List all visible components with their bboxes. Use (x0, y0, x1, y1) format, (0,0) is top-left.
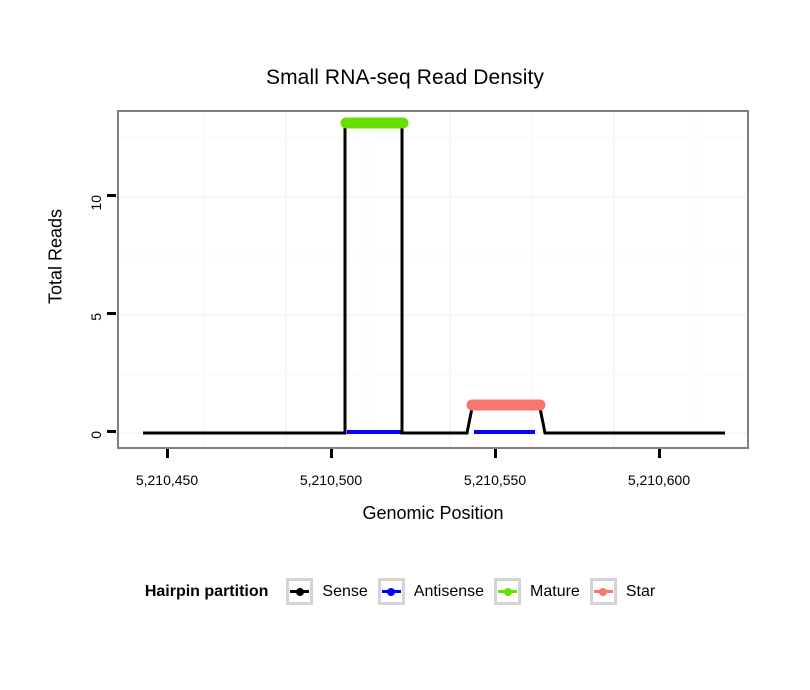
y-tick-10: 10 (60, 187, 96, 203)
plot-canvas (119, 112, 747, 447)
legend-entry-mature[interactable]: Mature (494, 578, 580, 605)
x-axis-title: Genomic Position (117, 503, 749, 524)
y-tick-label-5: 5 (88, 313, 104, 347)
plot-panel (117, 110, 749, 449)
x-tick-label-4: 5,210,600 (599, 472, 719, 488)
major-gridlines-horizontal (119, 197, 747, 433)
x-tickmark-1 (166, 449, 169, 458)
legend-label-antisense: Antisense (414, 583, 484, 601)
series-sense (143, 120, 725, 433)
legend-label-sense: Sense (322, 583, 367, 601)
legend-label-star: Star (626, 583, 655, 601)
legend-key-mature-icon (494, 578, 521, 605)
y-tick-label-0: 0 (88, 431, 104, 465)
legend: Hairpin partition Sense Antisense Mature (0, 578, 810, 605)
legend-label-mature: Mature (530, 583, 580, 601)
legend-entry-star[interactable]: Star (590, 578, 655, 605)
page-title: Small RNA-seq Read Density (0, 66, 810, 90)
y-tick-0: 0 (60, 423, 96, 439)
chart-figure: Small RNA-seq Read Density Total Reads 1… (0, 0, 810, 690)
legend-entry-antisense[interactable]: Antisense (378, 578, 484, 605)
y-tickmark-10 (107, 194, 116, 197)
legend-key-star-icon (590, 578, 617, 605)
legend-entry-sense[interactable]: Sense (286, 578, 367, 605)
major-gridlines-vertical (286, 112, 614, 447)
y-tickmark-5 (107, 312, 116, 315)
x-tick-label-3: 5,210,550 (435, 472, 555, 488)
legend-title: Hairpin partition (145, 583, 269, 601)
x-tickmark-4 (658, 449, 661, 458)
y-tickmark-0 (107, 430, 116, 433)
y-axis-title: Total Reads (46, 147, 67, 367)
legend-key-sense-icon (286, 578, 313, 605)
minor-gridlines-horizontal (119, 138, 747, 374)
x-tick-label-1: 5,210,450 (107, 472, 227, 488)
legend-key-antisense-icon (378, 578, 405, 605)
y-tick-5: 5 (60, 305, 96, 321)
x-tickmark-3 (494, 449, 497, 458)
y-tick-label-10: 10 (88, 195, 104, 229)
x-tickmark-2 (330, 449, 333, 458)
x-tick-label-2: 5,210,500 (271, 472, 391, 488)
